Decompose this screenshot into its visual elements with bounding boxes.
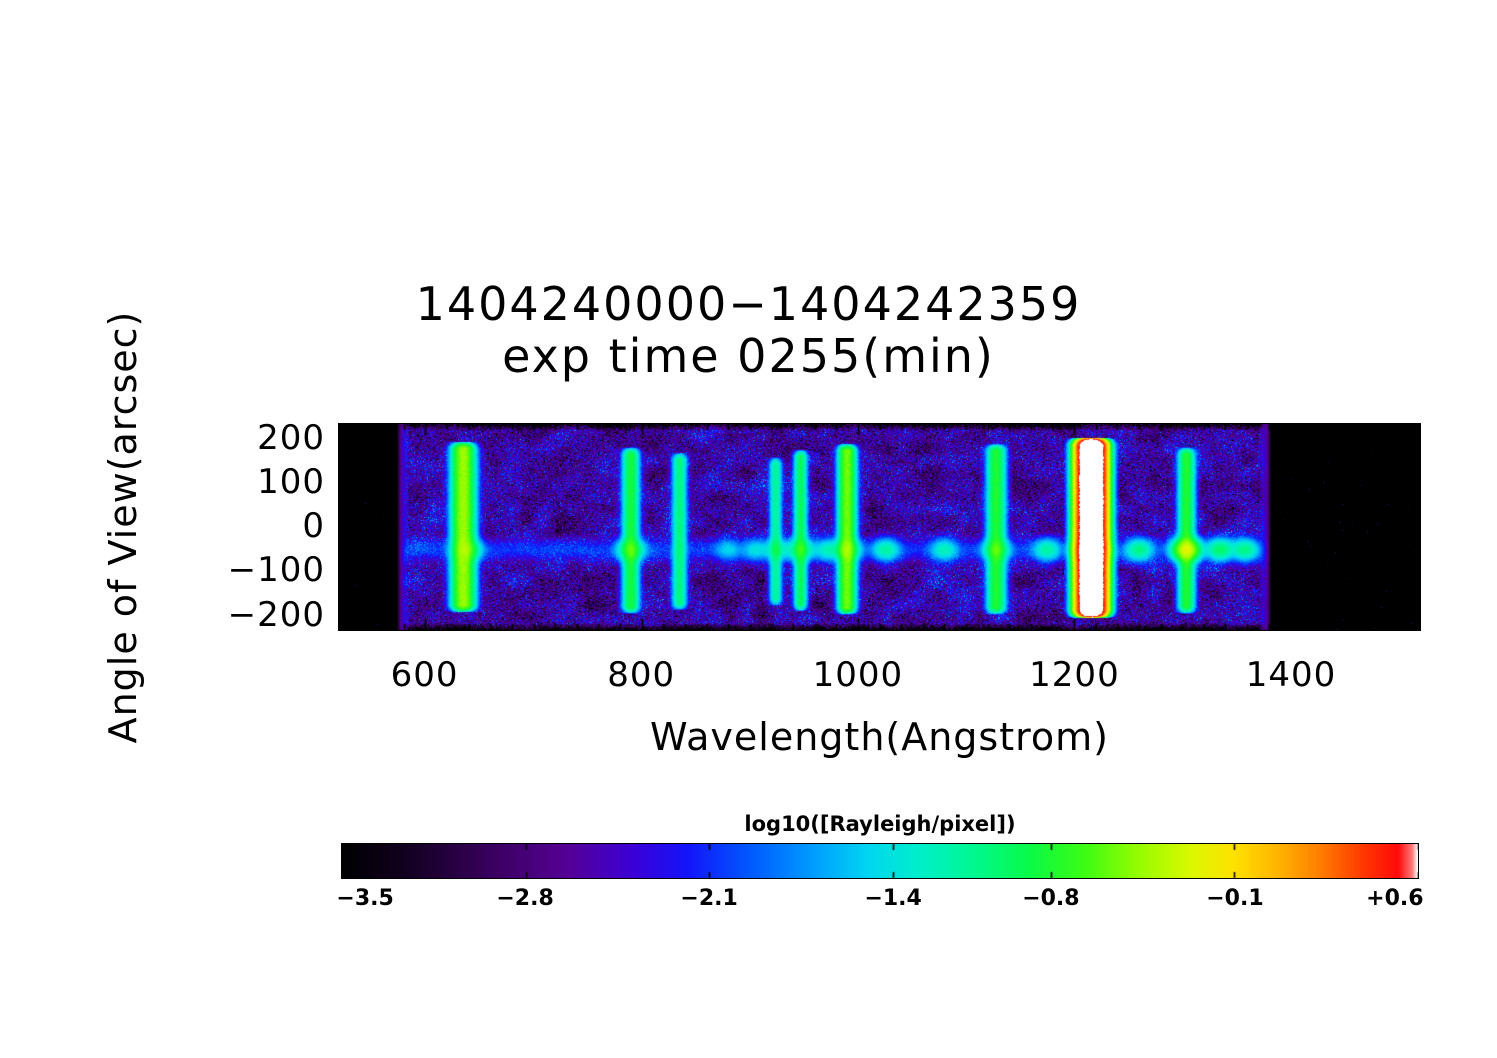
colorbar-tick-label: +0.6 bbox=[1366, 886, 1423, 912]
x-axis-title: Wavelength(Angstrom) bbox=[338, 714, 1421, 760]
colorbar-gradient bbox=[342, 844, 1418, 878]
x-axis-tick-label: 1400 bbox=[1246, 655, 1337, 695]
y-axis-tick-label: −200 bbox=[228, 598, 325, 632]
x-axis-tick-labels: 600800100012001400 bbox=[338, 655, 1421, 701]
x-axis-tick-label: 800 bbox=[607, 655, 675, 695]
colorbar-tick-label: −0.1 bbox=[1206, 886, 1263, 912]
y-axis-title: Angle of View(arcsec) bbox=[101, 267, 145, 787]
colorbar bbox=[341, 843, 1419, 879]
x-axis-tick-label: 600 bbox=[391, 655, 459, 695]
y-axis-tick-label: 200 bbox=[257, 421, 325, 455]
colorbar-title: log10([Rayleigh/pixel]) bbox=[341, 812, 1419, 836]
y-axis-tick-label: 100 bbox=[257, 465, 325, 499]
y-axis-tick-label: −100 bbox=[228, 553, 325, 587]
y-axis-tick-labels: 2001000−100−200 bbox=[190, 423, 325, 631]
x-axis-tick-label: 1000 bbox=[813, 655, 904, 695]
colorbar-tick-label: −0.8 bbox=[1022, 886, 1079, 912]
chart-title: 1404240000−1404242359 exp time 0255(min) bbox=[0, 278, 1497, 382]
y-axis-tick-label: 0 bbox=[302, 509, 325, 543]
colorbar-tick-label: −2.8 bbox=[496, 886, 553, 912]
colorbar-tick-label: −1.4 bbox=[864, 886, 921, 912]
spectrogram-plot-area bbox=[338, 423, 1421, 631]
colorbar-tick-label: −3.5 bbox=[336, 886, 393, 912]
chart-title-line2: exp time 0255(min) bbox=[0, 330, 1497, 382]
figure-root: 1404240000−1404242359 exp time 0255(min)… bbox=[0, 0, 1497, 1058]
spectrogram-image bbox=[339, 424, 1420, 630]
colorbar-tick-label: −2.1 bbox=[680, 886, 737, 912]
colorbar-tick-labels: −3.5−2.8−2.1−1.4−0.8−0.1+0.6 bbox=[341, 886, 1419, 918]
chart-title-line1: 1404240000−1404242359 bbox=[0, 278, 1497, 330]
x-axis-tick-label: 1200 bbox=[1029, 655, 1120, 695]
